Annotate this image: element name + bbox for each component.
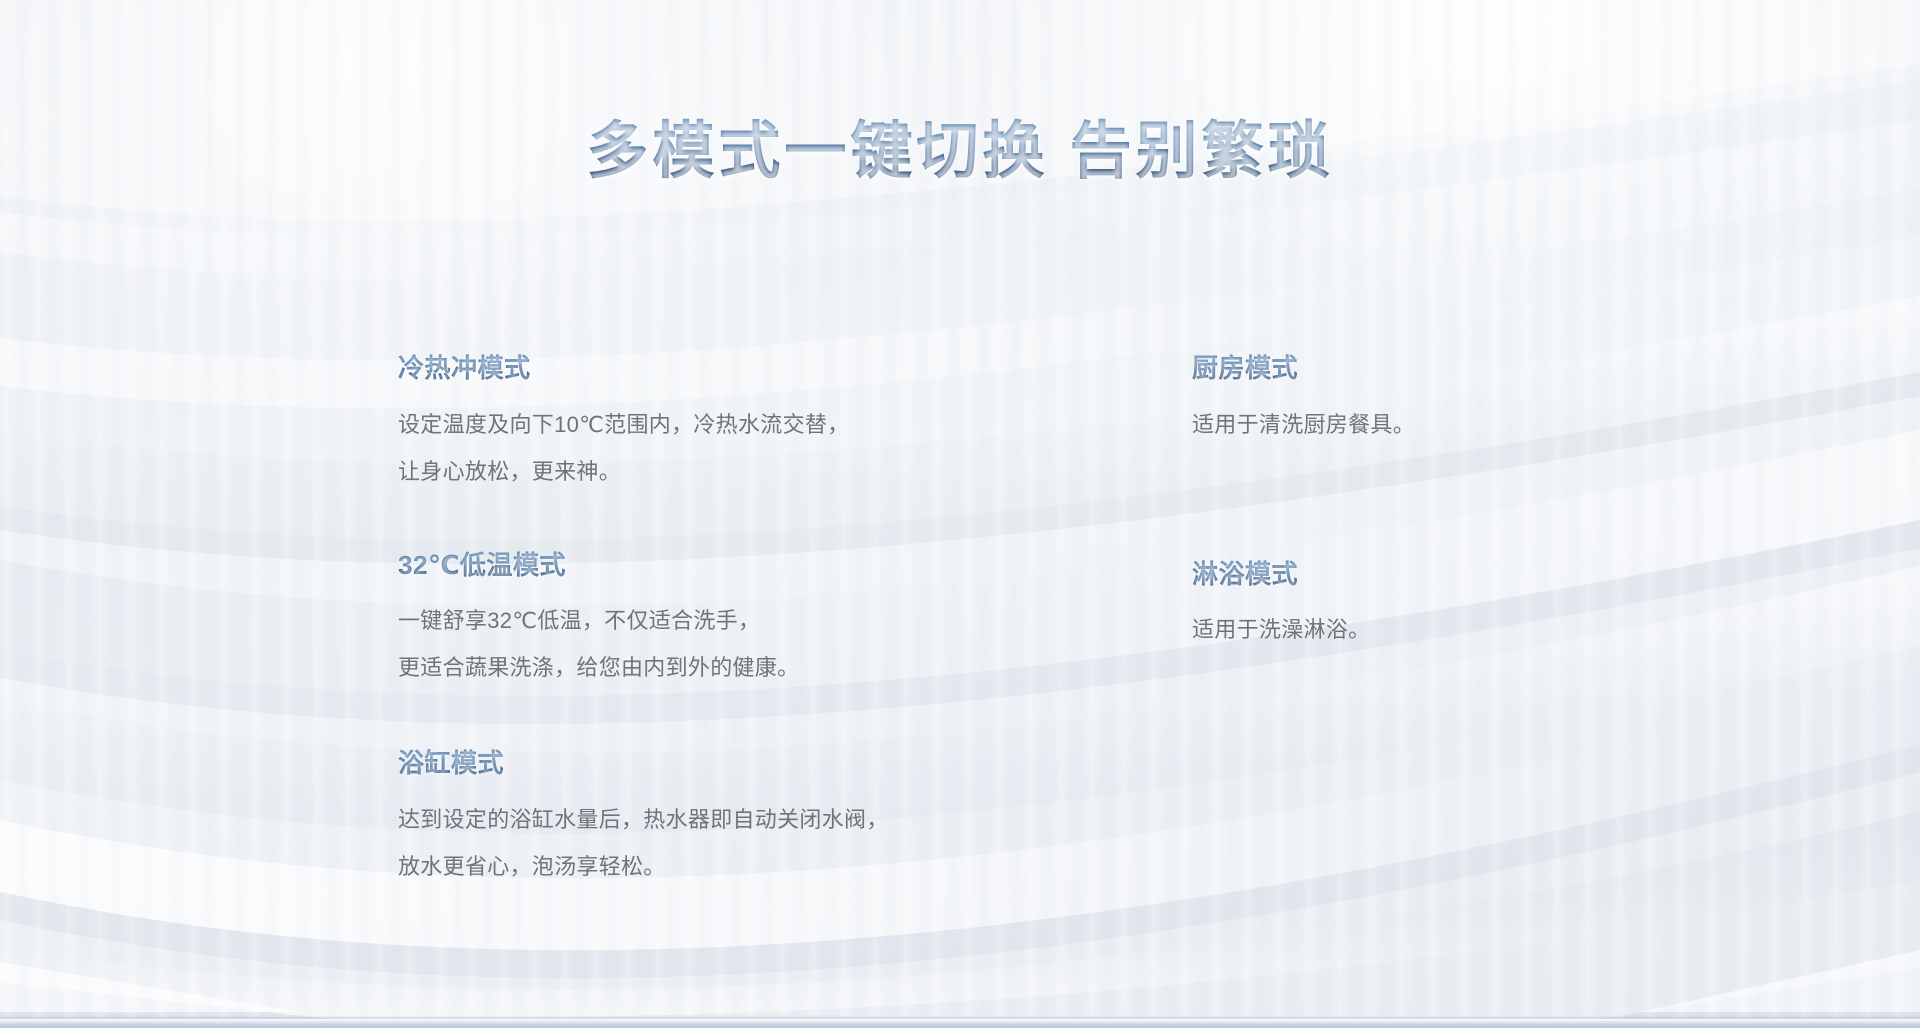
mode-title: 冷热冲模式 (398, 352, 1192, 385)
mode-item-shower: 淋浴模式 适用于洗澡淋浴。 (1192, 558, 1738, 654)
mode-title: 浴缸模式 (398, 747, 1192, 780)
mode-list: 冷热冲模式 设定温度及向下10℃范围内，冷热水流交替， 让身心放松，更来神。 3… (398, 352, 1738, 890)
mode-item-bathtub: 浴缸模式 达到设定的浴缸水量后，热水器即自动关闭水阀， 放水更省心，泡汤享轻松。 (398, 747, 1192, 890)
mode-column-left: 冷热冲模式 设定温度及向下10℃范围内，冷热水流交替， 让身心放松，更来神。 3… (398, 352, 1192, 890)
mode-item-low-temperature: 32℃低温模式 一键舒享32℃低温，不仅适合洗手， 更适合蔬果洗涤，给您由内到外… (398, 549, 1192, 692)
mode-description: 设定温度及向下10℃范围内，冷热水流交替， 让身心放松，更来神。 (398, 401, 1192, 495)
mode-description: 适用于清洗厨房餐具。 (1192, 401, 1738, 448)
mode-description: 一键舒享32℃低温，不仅适合洗手， 更适合蔬果洗涤，给您由内到外的健康。 (398, 597, 1192, 691)
mode-title: 32℃低温模式 (398, 549, 1192, 582)
mode-title: 厨房模式 (1192, 352, 1738, 385)
mode-column-right: 厨房模式 适用于清洗厨房餐具。 淋浴模式 适用于洗澡淋浴。 (1192, 352, 1738, 653)
page-title: 多模式一键切换 告别繁琐 (0, 118, 1920, 186)
mode-description: 适用于洗澡淋浴。 (1192, 606, 1738, 653)
promo-banner: 多模式一键切换 告别繁琐 冷热冲模式 设定温度及向下10℃范围内，冷热水流交替，… (0, 0, 1920, 1028)
mode-item-hot-cold: 冷热冲模式 设定温度及向下10℃范围内，冷热水流交替， 让身心放松，更来神。 (398, 352, 1192, 495)
bottom-edge-bar (0, 1019, 1920, 1028)
mode-item-kitchen: 厨房模式 适用于清洗厨房餐具。 (1192, 352, 1738, 448)
mode-description: 达到设定的浴缸水量后，热水器即自动关闭水阀， 放水更省心，泡汤享轻松。 (398, 796, 1192, 890)
mode-title: 淋浴模式 (1192, 558, 1738, 591)
